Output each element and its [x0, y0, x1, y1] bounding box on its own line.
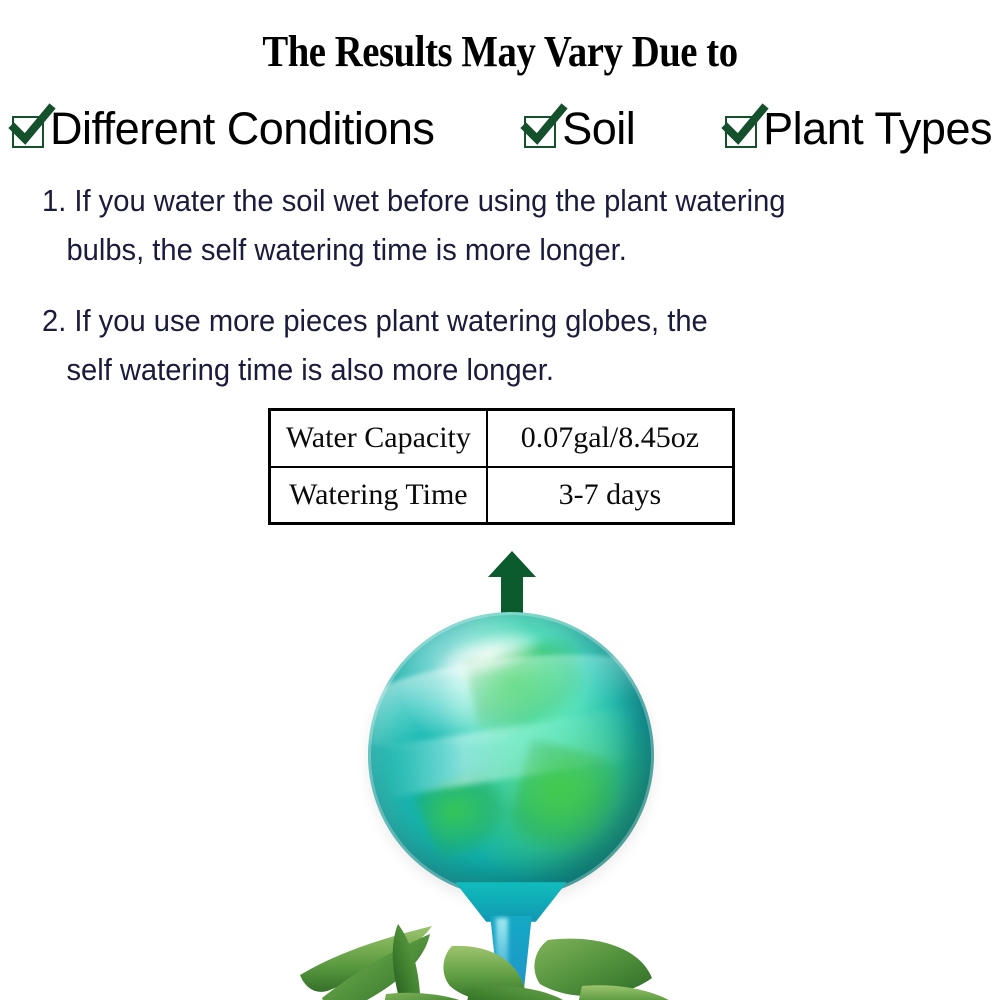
condition-label: Different Conditions: [50, 106, 434, 151]
spec-key: Water Capacity: [270, 410, 487, 467]
condition-label: Soil: [562, 106, 635, 151]
check-mark-icon: [520, 104, 566, 150]
plant-foliage: [0, 890, 1000, 1000]
condition-item-plant-types[interactable]: Plant Types: [721, 106, 992, 151]
checkbox-checked-icon: [520, 106, 564, 150]
list-item: 2. If you use more pieces plant watering…: [42, 296, 972, 394]
checkbox-checked-icon: [721, 106, 765, 150]
spec-key: Watering Time: [270, 467, 487, 524]
table-row: Water Capacity 0.07gal/8.45oz: [270, 410, 734, 467]
list-item: 1. If you water the soil wet before usin…: [42, 176, 972, 274]
note-line: bulbs, the self watering time is more lo…: [42, 225, 916, 274]
table-row: Watering Time 3-7 days: [270, 467, 734, 524]
glass-globe: [368, 612, 654, 898]
note-line: 2. If you use more pieces plant watering…: [42, 296, 916, 345]
notes-list: 1. If you water the soil wet before usin…: [42, 176, 972, 416]
globe-rim-light: [368, 612, 654, 898]
spec-value: 3-7 days: [487, 467, 734, 524]
watering-globe-photo: [0, 560, 1000, 1000]
checkbox-checked-icon: [8, 106, 52, 150]
note-line: 1. If you water the soil wet before usin…: [42, 176, 916, 225]
condition-item-soil[interactable]: Soil: [520, 106, 635, 151]
note-line: self watering time is also more longer.: [42, 345, 916, 394]
condition-item-different-conditions[interactable]: Different Conditions: [8, 106, 434, 151]
condition-label: Plant Types: [763, 106, 992, 151]
infographic-page: The Results May Vary Due to Different Co…: [0, 0, 1000, 1000]
check-mark-icon: [8, 104, 54, 150]
check-mark-icon: [721, 104, 767, 150]
page-title: The Results May Vary Due to: [60, 26, 940, 77]
conditions-row: Different Conditions Soil Plant Types: [8, 98, 992, 158]
spec-table: Water Capacity 0.07gal/8.45oz Watering T…: [268, 408, 735, 525]
spec-value: 0.07gal/8.45oz: [487, 410, 734, 467]
